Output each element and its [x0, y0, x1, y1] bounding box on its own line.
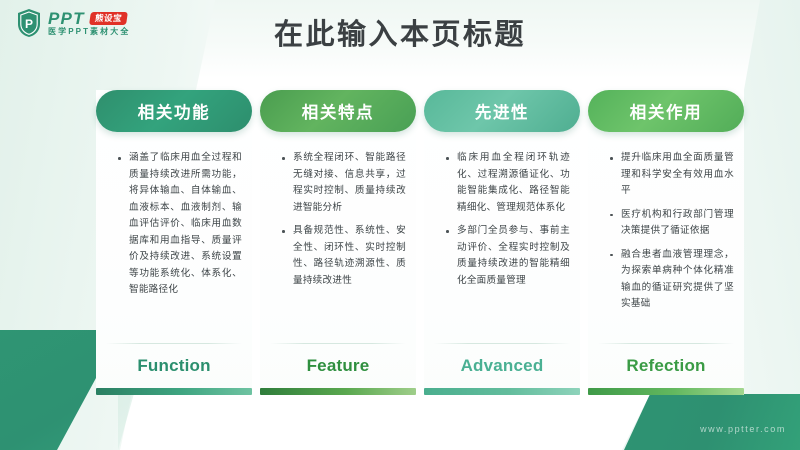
- list-item: 系统全程闭环、智能路径无缝对接、信息共享，过程实时控制、质量持续改进智能分析: [282, 150, 406, 216]
- slide-canvas: www.pptter.com P PPT 熊设宝 医学PPT素材大全 在此输入本…: [0, 0, 800, 450]
- list-item: 临床用血全程闭环轨迹化、过程溯源循证化、功能智能集成化、路径智能精细化、管理规范…: [446, 150, 570, 216]
- card-row: 相关功能 涵盖了临床用血全过程和质量持续改进所需功能，将异体输血、自体输血、血液…: [96, 90, 744, 395]
- bullet-list-feature: 系统全程闭环、智能路径无缝对接、信息共享，过程实时控制、质量持续改进智能分析 具…: [266, 150, 406, 289]
- card-header-advanced[interactable]: 先进性: [424, 90, 580, 132]
- background-bottom-right-wedge: www.pptter.com: [580, 394, 800, 450]
- card-header-feature[interactable]: 相关特点: [260, 90, 416, 132]
- card-accent-bar-feature: [260, 388, 416, 395]
- bullet-list-advanced: 临床用血全程闭环轨迹化、过程溯源循证化、功能智能集成化、路径智能精细化、管理规范…: [430, 150, 570, 289]
- card-accent-bar-function: [96, 388, 252, 395]
- card-body-function: 涵盖了临床用血全过程和质量持续改进所需功能，将异体输血、自体输血、血液标本、血液…: [96, 132, 252, 343]
- card-accent-bar-advanced: [424, 388, 580, 395]
- bullet-list-refection: 提升临床用血全面质量管理和科学安全有效用血水平 医疗机构和行政部门管理决策提供了…: [594, 150, 734, 313]
- list-item: 提升临床用血全面质量管理和科学安全有效用血水平: [610, 150, 734, 200]
- card-advanced: 先进性 临床用血全程闭环轨迹化、过程溯源循证化、功能智能集成化、路径智能精细化、…: [424, 90, 580, 395]
- card-footer-feature: Feature: [260, 344, 416, 388]
- card-footer-refection: Refection: [588, 344, 744, 388]
- card-header-function[interactable]: 相关功能: [96, 90, 252, 132]
- list-item: 融合患者血液管理理念，为探索单病种个体化精准输血的循证研究提供了坚实基础: [610, 247, 734, 313]
- card-header-refection[interactable]: 相关作用: [588, 90, 744, 132]
- card-function: 相关功能 涵盖了临床用血全过程和质量持续改进所需功能，将异体输血、自体输血、血液…: [96, 90, 252, 395]
- list-item: 涵盖了临床用血全过程和质量持续改进所需功能，将异体输血、自体输血、血液标本、血液…: [118, 150, 242, 299]
- card-accent-bar-refection: [588, 388, 744, 395]
- card-refection: 相关作用 提升临床用血全面质量管理和科学安全有效用血水平 医疗机构和行政部门管理…: [588, 90, 744, 395]
- card-feature: 相关特点 系统全程闭环、智能路径无缝对接、信息共享，过程实时控制、质量持续改进智…: [260, 90, 416, 395]
- list-item: 多部门全员参与、事前主动评价、全程实时控制及质量持续改进的智能精细化全面质量管理: [446, 223, 570, 289]
- card-body-feature: 系统全程闭环、智能路径无缝对接、信息共享，过程实时控制、质量持续改进智能分析 具…: [260, 132, 416, 343]
- watermark-text: www.pptter.com: [700, 424, 786, 434]
- list-item: 具备规范性、系统性、安全性、闭环性、实时控制性、路径轨迹溯源性、质量持续改进性: [282, 223, 406, 289]
- card-footer-advanced: Advanced: [424, 344, 580, 388]
- page-title: 在此输入本页标题: [0, 18, 800, 53]
- card-body-advanced: 临床用血全程闭环轨迹化、过程溯源循证化、功能智能集成化、路径智能精细化、管理规范…: [424, 132, 580, 343]
- card-body-refection: 提升临床用血全面质量管理和科学安全有效用血水平 医疗机构和行政部门管理决策提供了…: [588, 132, 744, 343]
- card-footer-function: Function: [96, 344, 252, 388]
- bullet-list-function: 涵盖了临床用血全过程和质量持续改进所需功能，将异体输血、自体输血、血液标本、血液…: [102, 150, 242, 299]
- list-item: 医疗机构和行政部门管理决策提供了循证依据: [610, 207, 734, 240]
